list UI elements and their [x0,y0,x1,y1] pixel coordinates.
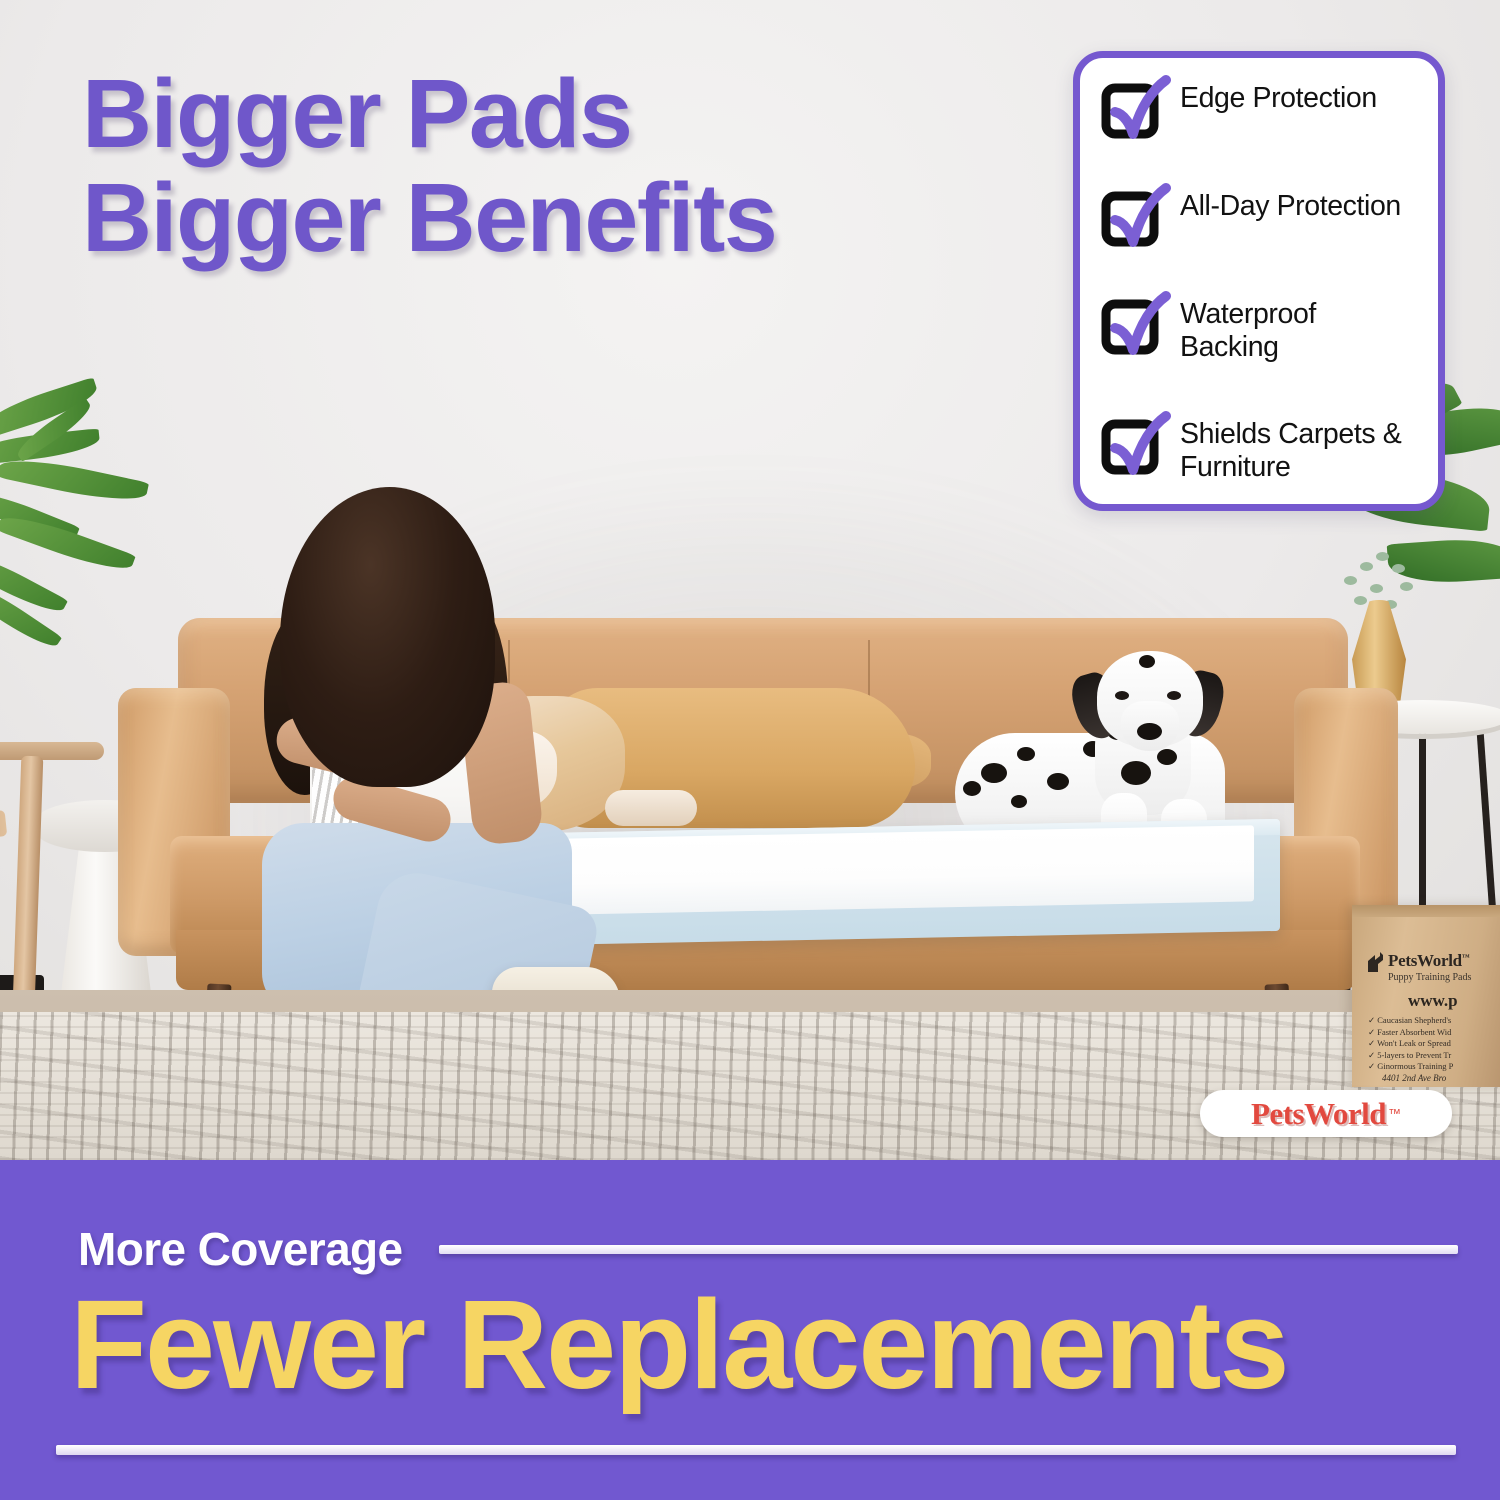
page-title: Bigger Pads Bigger Benefits [82,62,982,270]
benefit-item-shields-carpets-furniture: Shields Carpets & Furniture [1102,418,1420,484]
banner-divider-top [439,1245,1458,1254]
box-bullet: ✓ Faster Absorbent Wid [1368,1027,1500,1039]
brand-logo-text: PetsWorld [1251,1096,1386,1132]
stool-stretcher [0,810,7,840]
benefit-label: Waterproof Backing [1180,298,1420,364]
product-marketing-image: PetsWorld™ Puppy Training Pads www.p ✓ C… [0,0,1500,1500]
dalmatian-nose [1137,723,1162,740]
benefit-label: Shields Carpets & Furniture [1180,418,1420,484]
box-logo: PetsWorld™ Puppy Training Pads [1366,951,1496,983]
brand-logo-badge: PetsWorld ™ [1200,1090,1452,1137]
box-brand-name: PetsWorld™ [1388,951,1496,971]
checkbox-checked-icon [1102,192,1158,244]
banner-subhead: More Coverage [78,1222,403,1276]
box-bullet: ✓ Caucasian Shepherd's [1368,1015,1500,1027]
stool-seat [0,742,104,760]
pad-absorbent-surface [562,825,1254,914]
box-website: www.p [1408,991,1458,1011]
headline-line-2: Bigger Benefits [82,166,982,270]
product-box: PetsWorld™ Puppy Training Pads www.p ✓ C… [1352,905,1500,1087]
box-subtitle: Puppy Training Pads [1388,972,1496,983]
banner-subhead-row: More Coverage [78,1222,1458,1276]
hair [280,487,495,787]
benefit-item-all-day-protection: All-Day Protection [1102,190,1420,244]
checkbox-checked-icon [1102,84,1158,136]
trademark-symbol: ™ [1388,1106,1401,1121]
dog-logo-icon [1366,951,1392,973]
training-pad [538,819,1280,945]
banner-headline: Fewer Replacements [70,1282,1470,1408]
benefit-label: All-Day Protection [1180,190,1401,223]
checkbox-checked-icon [1102,420,1158,472]
benefits-checklist-card: Edge Protection All-Day Protection Water… [1073,51,1445,511]
headline-line-1: Bigger Pads [82,62,982,166]
benefit-item-waterproof-backing: Waterproof Backing [1102,298,1420,364]
area-rug [0,1012,1500,1160]
dalmatian-eye [1115,691,1129,700]
box-address: 4401 2nd Ave Bro [1382,1073,1446,1083]
box-bullet: ✓ Ginormous Training P [1368,1061,1500,1073]
checkbox-checked-icon [1102,300,1158,352]
box-flap [1352,905,1500,917]
benefit-item-edge-protection: Edge Protection [1102,82,1420,136]
banner-divider-bottom [56,1445,1456,1455]
dalmatian-eye [1167,691,1181,700]
benefit-label: Edge Protection [1180,82,1377,115]
box-bullet: ✓ 5-layers to Prevent Tr [1368,1050,1500,1062]
box-bullet: ✓ Won't Leak or Spread [1368,1038,1500,1050]
box-bullet-list: ✓ Caucasian Shepherd's ✓ Faster Absorben… [1368,1015,1500,1073]
